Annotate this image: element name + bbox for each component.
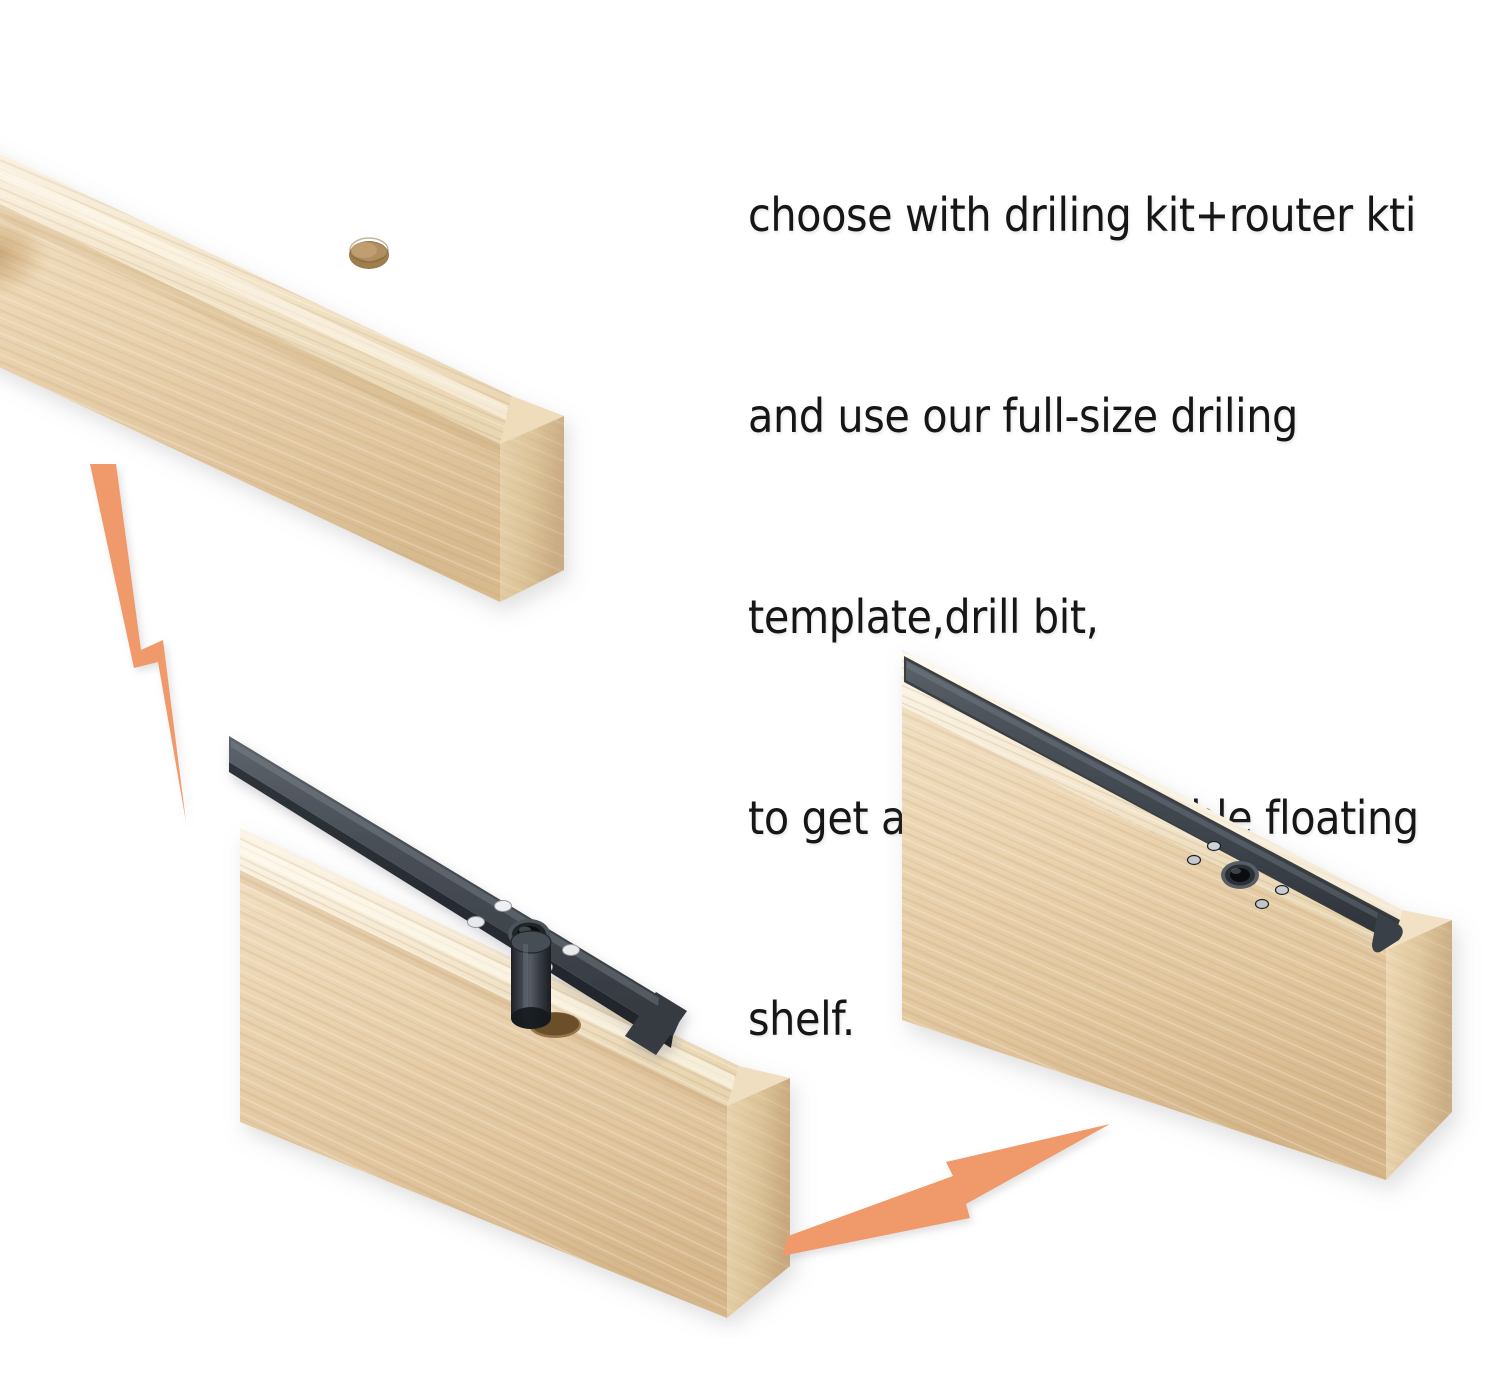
board-end-grain-texture — [500, 416, 564, 602]
shelf-board-step3 — [880, 620, 1500, 1300]
instruction-line-1: choose with driling kit+router kti — [748, 182, 1460, 249]
shelf-board-body-step2 — [240, 828, 790, 1318]
support-rod-step2 — [511, 931, 551, 1029]
arrow-down-shape — [90, 464, 186, 822]
board-end-grain-texture — [1386, 920, 1452, 1180]
drilled-hole — [349, 238, 389, 269]
bracket-center-socket-step3 — [1221, 861, 1259, 889]
rod-bottom-shade — [511, 1007, 551, 1029]
instruction-line-2: and use our full-size driling — [748, 383, 1460, 450]
board-front-grain — [240, 870, 727, 1318]
instruction-illustration-scene: choose with driling kit+router kti and u… — [0, 0, 1500, 1391]
